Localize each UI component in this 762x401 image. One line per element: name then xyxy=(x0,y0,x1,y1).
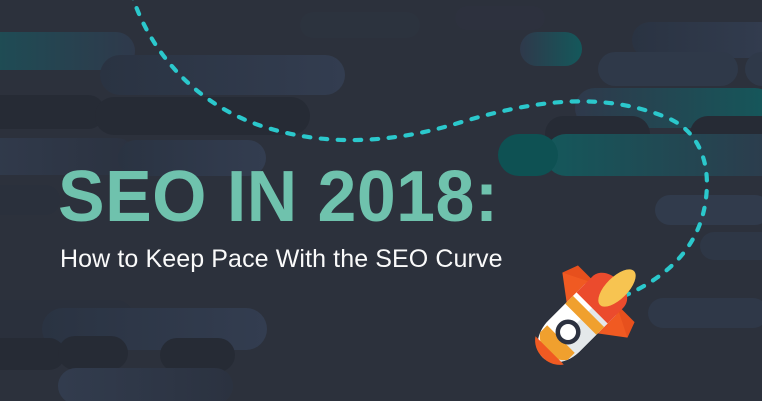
seo-banner: SEO IN 2018: How to Keep Pace With the S… xyxy=(0,0,762,401)
text-block: SEO IN 2018: How to Keep Pace With the S… xyxy=(58,162,512,274)
page-title: SEO IN 2018: xyxy=(58,162,499,232)
page-subtitle: How to Keep Pace With the SEO Curve xyxy=(60,244,512,274)
